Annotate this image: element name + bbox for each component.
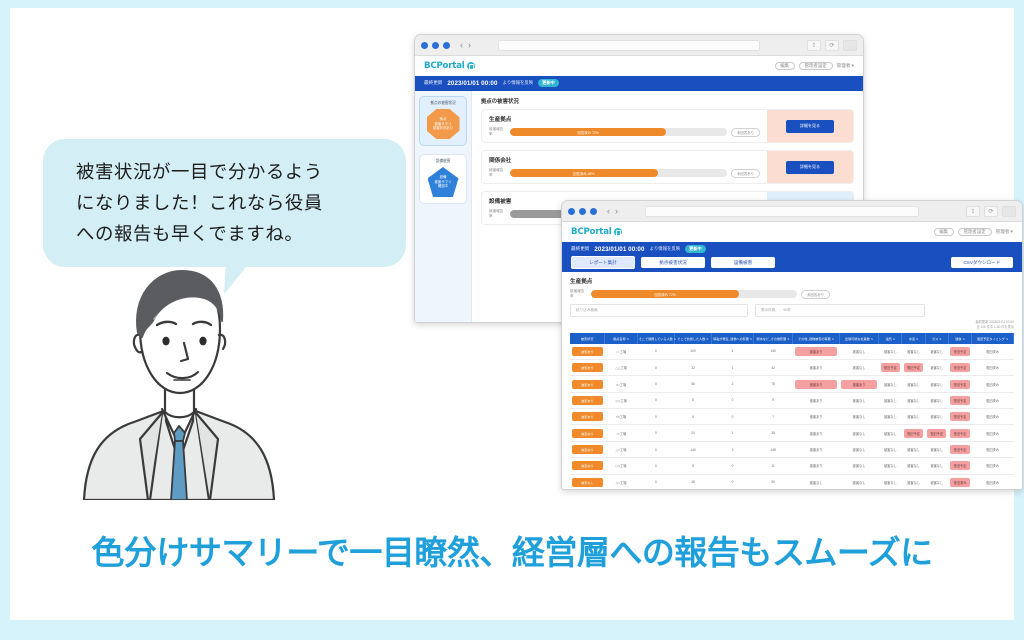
table-col-header[interactable]: そこで負傷した人数⇅	[674, 333, 711, 344]
table-cell: 被害なし	[925, 409, 948, 425]
table-cell: 被害あり	[793, 376, 839, 392]
shield-icon	[614, 228, 622, 236]
table-cell: 復旧予定	[879, 359, 902, 375]
table-row[interactable]: 被害あり△□工場01403148被害あり被害なし被害なし被害なし被害なし復旧予定…	[570, 441, 1014, 457]
detail-button[interactable]: 詳細を見る	[786, 161, 834, 174]
table-row[interactable]: 被害あり××工場0507被害あり被害なし被害なし被害なし被害なし復旧予定復旧済み	[570, 409, 1014, 425]
alert-cell: 復旧予定	[950, 347, 969, 356]
table-cell: 被害なし	[839, 441, 878, 457]
table-cell: 被害なし	[879, 425, 902, 441]
table-cell: 復旧済み	[972, 474, 1014, 490]
table-cell: 復旧予定	[948, 344, 971, 360]
table-cell: 4	[712, 344, 754, 360]
kyoten-name: 生産拠点	[489, 115, 760, 123]
table-cell: 被害なし	[925, 376, 948, 392]
back-arrow-icon[interactable]: ‹	[607, 207, 610, 216]
table-cell: 被害あり	[793, 458, 839, 474]
damage-status-cell: 被害あり	[570, 409, 605, 425]
table-cell: 58	[674, 376, 711, 392]
damage-status-cell: 被害あり	[570, 376, 605, 392]
progress-text: 回答済み 72%	[655, 292, 676, 297]
alert-cell: 復旧予定	[927, 429, 946, 438]
status-pill: 未回答あり	[731, 169, 760, 178]
table-cell: 被害なし	[839, 474, 878, 490]
table-col-header[interactable]: 電気⇅	[879, 333, 902, 344]
table-col-header[interactable]: 復旧予定タイミング⇅	[972, 333, 1014, 344]
progress-fill: 回答済み 72%	[510, 128, 666, 136]
status-badge: 被害あり	[572, 380, 603, 389]
progress-label: 被害報告率	[489, 168, 506, 178]
table-cell: 復旧済み	[972, 458, 1014, 474]
table-cell: 被害なし	[925, 344, 948, 360]
section-title-back: 拠点の被害状況	[481, 97, 854, 105]
share-icon[interactable]: ⇪	[807, 40, 821, 51]
table-cell: 0	[637, 392, 674, 408]
table-cell: 0	[637, 441, 674, 457]
front-progress-row: 被害報告率 回答済み 72% 未回答あり	[570, 289, 830, 299]
share-icon[interactable]: ⇪	[966, 206, 980, 217]
alert-cell: 復旧予定	[881, 363, 900, 372]
table-cell: 50	[753, 474, 792, 490]
table-cell: 復旧予定	[948, 458, 971, 474]
tab-setsubi[interactable]: 設備被害	[711, 257, 775, 268]
status-badge: 被害なし	[572, 478, 603, 487]
section-title-front: 生産拠点	[570, 277, 1014, 285]
table-cell: 被害なし	[925, 359, 948, 375]
table-cell: 被害なし	[839, 344, 878, 360]
table-cell: 32	[674, 359, 711, 375]
table-cell: 48	[674, 474, 711, 490]
table-cell: 9	[674, 458, 711, 474]
table-col-header[interactable]: 被害状況	[570, 333, 605, 344]
alert-cell: 復旧予定	[904, 429, 923, 438]
table-cell: 被害なし	[925, 441, 948, 457]
rows-per-page-label: 表示件数	[761, 308, 775, 313]
table-col-header[interactable]: その他_建物被害の有無⇅	[793, 333, 839, 344]
progress-label: 被害報告率	[570, 289, 587, 299]
table-cell: 被害なし	[793, 474, 839, 490]
table-cell: 0	[637, 425, 674, 441]
rows-per-page-select[interactable]: 表示件数 50件	[755, 304, 925, 317]
admin-settings-pill-button[interactable]: 管理者設定	[799, 62, 833, 70]
maximize-dot-icon[interactable]	[590, 208, 597, 215]
table-cell: 復旧予定	[948, 441, 971, 457]
user-menu[interactable]: 管理者 ▾	[837, 63, 854, 69]
damage-table: 被害状況拠点名称⇅そこで勤務している人数⇅そこで負傷した人数⇅停電が発生_建物へ…	[570, 333, 1014, 490]
table-cell: 復旧予定	[925, 425, 948, 441]
last-update-label: 最終更新	[571, 246, 589, 252]
table-cell: 被害なし	[902, 441, 925, 457]
last-update-label: 最終更新	[424, 80, 442, 86]
table-header-row[interactable]: 被害状況拠点名称⇅そこで勤務している人数⇅そこで負傷した人数⇅停電が発生_建物へ…	[570, 333, 1014, 344]
table-cell: 0	[712, 392, 754, 408]
progress-fill: 回答済み 68%	[510, 169, 658, 177]
detail-button[interactable]: 詳細を見る	[786, 120, 834, 133]
alert-cell: 被害あり	[841, 380, 876, 389]
table-cell: 復旧予定	[948, 425, 971, 441]
alert-cell: 復旧済み	[950, 478, 969, 487]
chrome-buttons[interactable]: ⇪ ⟳	[966, 206, 1016, 217]
table-cell: 0	[712, 409, 754, 425]
table-col-header[interactable]: 出勤可能な社員数⇅	[839, 333, 878, 344]
octagon-shape-text: 拠点 被害サマリ 被害状況あり	[433, 117, 453, 131]
sidebar-item-kyoten[interactable]: 拠点の被害状況 拠点 被害サマリ 被害状況あり	[419, 96, 467, 146]
table-cell: 被害なし	[879, 458, 902, 474]
pentagon-shape-icon: 設備 被害サマリ 確認中	[428, 167, 459, 197]
table-cell: 被害なし	[839, 392, 878, 408]
table-cell: 被害なし	[839, 425, 878, 441]
traffic-lights[interactable]	[568, 208, 597, 215]
table-cell: △△工場	[605, 359, 638, 375]
alert-cell: 復旧予定	[950, 396, 969, 405]
status-badge: 被害あり	[572, 445, 603, 454]
table-row[interactable]: 被害あり○○工場01004140被害あり被害なし被害なし被害なし被害なし復旧予定…	[570, 344, 1014, 360]
table-cell: 復旧済み	[972, 409, 1014, 425]
table-cell: ○○工場	[605, 344, 638, 360]
reload-icon[interactable]: ⟳	[984, 206, 998, 217]
table-cell: 1	[712, 425, 754, 441]
table-cell: 復旧済み	[972, 359, 1014, 375]
damage-status-cell: 被害あり	[570, 425, 605, 441]
white-canvas: 被害状況が一目で分かるよう になりました！これなら役員 への報告も早くでますね。	[10, 8, 1014, 620]
minimize-dot-icon[interactable]	[432, 42, 439, 49]
table-row[interactable]: 被害あり□◇工場09011被害あり被害なし被害なし被害なし被害なし復旧予定復旧済…	[570, 458, 1014, 474]
table-cell: 被害なし	[879, 392, 902, 408]
brand-name: BCPortal	[424, 61, 465, 71]
table-cell: 被害あり	[793, 425, 839, 441]
brand-logo[interactable]: BCPortal	[571, 227, 622, 237]
status-badge: 被害あり	[572, 429, 603, 438]
table-col-header[interactable]: 水道⇅	[902, 333, 925, 344]
table-meta: 最終更新 2023/01/01 00:00 全 128 件中 1-50 件を表示	[570, 320, 1014, 330]
table-cell: 被害なし	[902, 344, 925, 360]
table-row[interactable]: 被害あり□□工場058275被害あり被害あり被害なし被害なし被害なし復旧予定復旧…	[570, 376, 1014, 392]
table-cell: 被害なし	[902, 376, 925, 392]
brand-name: BCPortal	[571, 227, 612, 237]
pentagon-shape-text: 設備 被害サマリ 確認中	[435, 175, 452, 189]
table-col-header[interactable]: そこで勤務している人数⇅	[637, 333, 674, 344]
table-row[interactable]: 被害あり○×工場024138被害あり被害なし被害なし復旧予定復旧予定復旧予定復旧…	[570, 425, 1014, 441]
table-cell: 被害あり	[793, 441, 839, 457]
table-cell: 被害あり	[839, 376, 878, 392]
nav-arrows[interactable]: ‹ ›	[607, 207, 618, 216]
table-cell: 0	[637, 344, 674, 360]
table-body: 被害あり○○工場01004140被害あり被害なし被害なし被害なし被害なし復旧予定…	[570, 344, 1014, 490]
table-cell: 復旧済み	[948, 474, 971, 490]
table-cell: 9	[753, 392, 792, 408]
table-cell: 被害あり	[793, 409, 839, 425]
edit-pill-button[interactable]: 編集	[934, 228, 954, 236]
table-cell: 0	[637, 376, 674, 392]
last-update-date: 2023/01/01 00:00	[594, 246, 644, 253]
kyoten-row[interactable]: 生産拠点 被害報告率 回答済み 72% 未回答あり	[481, 109, 854, 143]
table-cell: 復旧済み	[972, 425, 1014, 441]
table-cell: 被害あり	[793, 344, 839, 360]
status-bar-back: 最終更新 2023/01/01 00:00 より情報を反映 更新中	[415, 76, 863, 91]
alert-cell: 復旧予定	[950, 363, 969, 372]
tab-bar[interactable]: レポート集計 拠点被害状況 設備被害 CSVダウンロード	[571, 256, 1013, 269]
last-update-sub: より情報を反映	[503, 80, 534, 86]
table-cell: ××工場	[605, 409, 638, 425]
minimize-dot-icon[interactable]	[579, 208, 586, 215]
table-cell: 0	[637, 409, 674, 425]
table-cell: ○×工場	[605, 425, 638, 441]
table-col-header[interactable]: ガス⇅	[925, 333, 948, 344]
person-illustration	[62, 263, 297, 500]
damage-status-cell: 被害あり	[570, 458, 605, 474]
alert-cell: 被害あり	[795, 380, 837, 389]
table-cell: 0	[712, 474, 754, 490]
sidebar-back[interactable]: 拠点の被害状況 拠点 被害サマリ 被害状況あり 設備被害 設備 被害サマリ 確認…	[415, 91, 472, 323]
status-bar-front: 最終更新 2023/01/01 00:00 より情報を反映 更新中 レポート集計…	[562, 242, 1022, 272]
status-badge: 被害あり	[572, 412, 603, 421]
progress-track: 回答済み 72%	[510, 128, 727, 136]
alert-cell: 復旧予定	[950, 445, 969, 454]
table-cell: 復旧済み	[972, 376, 1014, 392]
forward-arrow-icon[interactable]: ›	[468, 41, 471, 50]
last-update-date: 2023/01/01 00:00	[447, 80, 497, 87]
table-cell: 復旧予定	[948, 359, 971, 375]
table-cell: 復旧予定	[948, 409, 971, 425]
table-col-header[interactable]: 通信⇅	[948, 333, 971, 344]
alert-cell: 復旧予定	[904, 363, 923, 372]
table-cell: 復旧済み	[972, 441, 1014, 457]
filter-row[interactable]: 絞り込み検索 表示件数 50件	[570, 304, 1014, 317]
reload-icon[interactable]: ⟳	[825, 40, 839, 51]
alert-cell: 復旧予定	[950, 429, 969, 438]
edit-pill-button[interactable]: 編集	[775, 62, 795, 70]
progress-label: 被害報告率	[489, 127, 506, 137]
browser-chrome-back: ‹ › ⇪ ⟳	[415, 35, 863, 56]
table-cell: 被害なし	[839, 458, 878, 474]
table-cell: 被害あり	[793, 359, 839, 375]
progress-text: 回答済み 72%	[577, 130, 598, 135]
status-badge: 更新中	[685, 245, 706, 253]
status-badge: 被害あり	[572, 461, 603, 470]
table-cell: 38	[753, 425, 792, 441]
damage-status-cell: 被害なし	[570, 474, 605, 490]
table-cell: 被害なし	[902, 458, 925, 474]
alert-cell: 被害あり	[795, 347, 837, 356]
damage-status-cell: 被害あり	[570, 344, 605, 360]
table-cell: 被害なし	[902, 392, 925, 408]
table-cell: 復旧済み	[972, 392, 1014, 408]
user-menu[interactable]: 管理者 ▾	[996, 229, 1013, 235]
damage-status-cell: 被害あり	[570, 392, 605, 408]
table-cell: 復旧予定	[948, 376, 971, 392]
table-cell: ◇◇工場	[605, 392, 638, 408]
status-badge: 更新中	[538, 79, 559, 87]
progress-text: 回答済み 68%	[573, 171, 594, 176]
page-caption: 色分けサマリーで一目瞭然、経営層への報告もスムーズに	[10, 526, 1014, 574]
progress-track: 回答済み 68%	[510, 169, 727, 177]
progress-label: 被害報告率	[489, 209, 506, 219]
table-cell: △□工場	[605, 441, 638, 457]
admin-settings-pill-button[interactable]: 管理者設定	[958, 228, 992, 236]
sidebar-item-setsubi-label: 設備被害	[422, 159, 464, 164]
brand-logo[interactable]: BCPortal	[424, 61, 475, 71]
kyoten-action-area: 詳細を見る	[767, 151, 853, 183]
table-cell: 被害なし	[902, 409, 925, 425]
table-cell: 被害なし	[902, 474, 925, 490]
browser-chrome-front: ‹ › ⇪ ⟳	[562, 201, 1022, 222]
table-cell: 5	[674, 409, 711, 425]
search-input[interactable]: 絞り込み検索	[570, 304, 748, 317]
table-cell: 75	[753, 376, 792, 392]
sidebar-item-setsubi[interactable]: 設備被害 設備 被害サマリ 確認中	[419, 154, 467, 204]
table-row[interactable]: 被害あり△△工場032142被害あり被害なし復旧予定復旧予定被害なし復旧予定復旧…	[570, 359, 1014, 375]
table-col-header[interactable]: 停電が発生_建物への影響⇅	[712, 333, 754, 344]
table-cell: 148	[753, 441, 792, 457]
table-cell: 被害なし	[879, 474, 902, 490]
front-window-body: 生産拠点 被害報告率 回答済み 72% 未回答あり 絞り込み検索	[562, 272, 1022, 490]
table-cell: ◇○工場	[605, 474, 638, 490]
status-pill: 未回答あり	[801, 290, 830, 299]
tab-kyoten[interactable]: 拠点被害状況	[641, 257, 705, 268]
table-cell: 被害なし	[925, 474, 948, 490]
status-badge: 被害あり	[572, 396, 603, 405]
table-cell: 被害なし	[879, 441, 902, 457]
close-dot-icon[interactable]	[421, 42, 428, 49]
table-cell: 3	[712, 441, 754, 457]
table-cell: 42	[753, 359, 792, 375]
table-cell: □□工場	[605, 376, 638, 392]
table-cell: 140	[674, 441, 711, 457]
alert-cell: 復旧予定	[950, 461, 969, 470]
maximize-dot-icon[interactable]	[443, 42, 450, 49]
status-badge: 被害あり	[572, 363, 603, 372]
table-cell: 0	[637, 359, 674, 375]
table-cell: 被害なし	[839, 359, 878, 375]
speech-bubble-text: 被害状況が一目で分かるよう になりました！これなら役員 への報告も早くでますね。	[76, 157, 384, 250]
rows-per-page-value: 50件	[783, 308, 791, 313]
table-cell: 被害なし	[879, 344, 902, 360]
table-cell: 被害あり	[793, 392, 839, 408]
header-actions[interactable]: 編集 管理者設定 管理者 ▾	[775, 62, 854, 70]
back-arrow-icon[interactable]: ‹	[460, 41, 463, 50]
table-cell: 被害なし	[925, 458, 948, 474]
tab-report[interactable]: レポート集計	[571, 256, 635, 269]
shield-icon	[467, 62, 475, 70]
status-pill: 未回答あり	[731, 128, 760, 137]
table-cell: 140	[753, 344, 792, 360]
table-cell: 被害なし	[879, 376, 902, 392]
table-cell: 0	[637, 458, 674, 474]
traffic-lights[interactable]	[421, 42, 450, 49]
table-cell: 100	[674, 344, 711, 360]
kyoten-row[interactable]: 関係会社 被害報告率 回答済み 68% 未回答あり	[481, 150, 854, 184]
close-dot-icon[interactable]	[568, 208, 575, 215]
table-cell: 復旧済み	[972, 344, 1014, 360]
tab-switcher-icon[interactable]	[1002, 206, 1016, 217]
status-badge: 被害あり	[572, 347, 603, 356]
octagon-shape-icon: 拠点 被害サマリ 被害状況あり	[427, 109, 460, 139]
alert-cell: 復旧予定	[950, 412, 969, 421]
search-input-placeholder: 絞り込み検索	[576, 308, 598, 313]
table-row[interactable]: 被害あり◇◇工場0809被害あり被害なし被害なし被害なし被害なし復旧予定復旧済み	[570, 392, 1014, 408]
progress-track: 回答済み 72%	[591, 290, 797, 298]
page-root: 被害状況が一目で分かるよう になりました！これなら役員 への報告も早くでますね。	[0, 0, 1024, 640]
alert-cell: 復旧予定	[950, 380, 969, 389]
table-cell: 被害なし	[839, 409, 878, 425]
browser-window-front[interactable]: ‹ › ⇪ ⟳ BCPortal 編集 管理者設定 管理者	[561, 200, 1023, 490]
sidebar-item-kyoten-label: 拠点の被害状況	[422, 101, 464, 106]
progress-fill: 回答済み 72%	[591, 290, 739, 298]
table-cell: 24	[674, 425, 711, 441]
url-bar[interactable]	[498, 40, 760, 51]
table-cell: 復旧予定	[948, 392, 971, 408]
kyoten-name: 関係会社	[489, 156, 760, 164]
speech-bubble: 被害状況が一目で分かるよう になりました！これなら役員 への報告も早くでますね。	[43, 139, 406, 267]
damage-status-cell: 被害あり	[570, 359, 605, 375]
table-cell: 0	[637, 474, 674, 490]
table-cell: 復旧予定	[902, 359, 925, 375]
tab-switcher-icon[interactable]	[843, 40, 857, 51]
table-col-header[interactable]: 断水など_その他影響⇅	[753, 333, 792, 344]
table-row[interactable]: 被害なし◇○工場048050被害なし被害なし被害なし被害なし被害なし復旧済み復旧…	[570, 474, 1014, 490]
table-col-header[interactable]: 拠点名称⇅	[605, 333, 638, 344]
table-cell: 被害なし	[925, 392, 948, 408]
table-cell: 7	[753, 409, 792, 425]
table-cell: 0	[712, 458, 754, 474]
table-cell: 8	[674, 392, 711, 408]
table-cell: 被害なし	[879, 409, 902, 425]
table-cell: 1	[712, 359, 754, 375]
forward-arrow-icon[interactable]: ›	[615, 207, 618, 216]
url-bar[interactable]	[645, 206, 919, 217]
kyoten-action-area: 詳細を見る	[767, 110, 853, 142]
app-header-back: BCPortal 編集 管理者設定 管理者 ▾	[415, 56, 863, 76]
table-cell: 2	[712, 376, 754, 392]
damage-status-cell: 被害あり	[570, 441, 605, 457]
header-actions[interactable]: 編集 管理者設定 管理者 ▾	[934, 228, 1013, 236]
last-update-sub: より情報を反映	[650, 246, 681, 252]
table-cell: 復旧予定	[902, 425, 925, 441]
csv-download-button[interactable]: CSVダウンロード	[951, 257, 1013, 268]
table-cell: 11	[753, 458, 792, 474]
app-header-front: BCPortal 編集 管理者設定 管理者 ▾	[562, 222, 1022, 242]
nav-arrows[interactable]: ‹ ›	[460, 41, 471, 50]
chrome-buttons[interactable]: ⇪ ⟳	[807, 40, 857, 51]
table-cell: □◇工場	[605, 458, 638, 474]
